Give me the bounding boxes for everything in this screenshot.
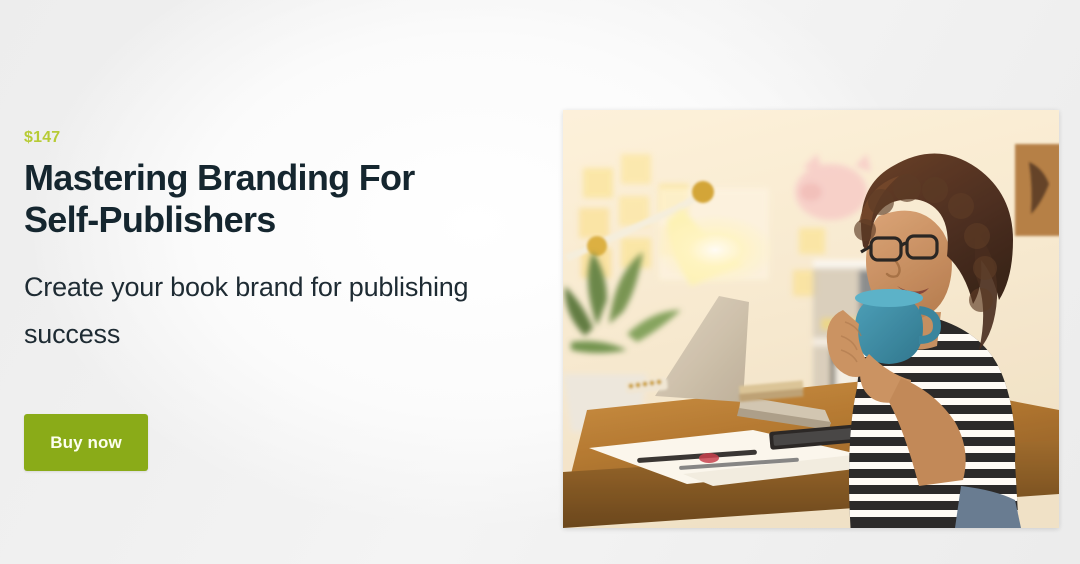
page-title: Mastering Branding For Self-Publishers (24, 157, 494, 241)
promo-card: $147 Mastering Branding For Self-Publish… (0, 0, 1080, 564)
course-photo (563, 110, 1059, 528)
offer-subtitle: Create your book brand for publishing su… (24, 264, 484, 358)
offer-copy-column: $147 Mastering Branding For Self-Publish… (24, 130, 524, 358)
photo-illustration (563, 110, 1059, 528)
price-label: $147 (24, 130, 524, 146)
buy-now-button[interactable]: Buy now (24, 414, 148, 471)
